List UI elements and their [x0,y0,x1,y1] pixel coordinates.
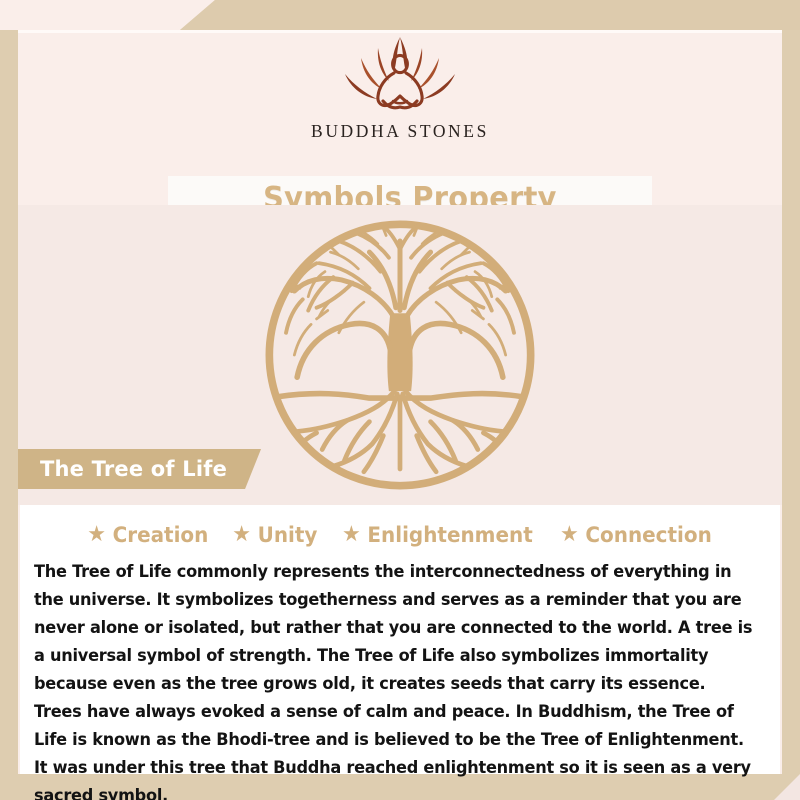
keyword-label: Creation [113,523,209,547]
star-icon: ★ [87,524,106,546]
keyword-item: ★ Connection [560,523,712,547]
keyword-item: ★ Enlightenment [342,523,533,547]
star-icon: ★ [342,524,361,546]
poster-root: BUDDHA STONES Symbols Property [0,0,800,800]
keyword-label: Connection [585,523,711,547]
content-card: ★ Creation ★ Unity ★ Enlightenment ★ Con… [20,505,780,774]
keyword-item: ★ Unity [232,523,317,547]
keyword-label: Enlightenment [368,523,533,547]
keyword-label: Unity [257,523,317,547]
symbol-description: The Tree of Life commonly represents the… [34,558,755,800]
brand-lockup: BUDDHA STONES [18,33,782,142]
keyword-item: ★ Creation [87,523,208,547]
tree-of-life-circle-icon [261,216,539,494]
header-section: BUDDHA STONES Symbols Property [18,33,782,205]
symbol-name-banner: The Tree of Life [18,449,261,489]
symbol-name-label: The Tree of Life [40,457,227,481]
star-icon: ★ [560,524,579,546]
bottom-right-bevel-decoration [774,774,800,800]
keyword-list: ★ Creation ★ Unity ★ Enlightenment ★ Con… [34,515,766,555]
star-icon: ★ [232,524,251,546]
brand-name: BUDDHA STONES [311,121,489,142]
lotus-meditation-figure-icon [325,31,475,119]
